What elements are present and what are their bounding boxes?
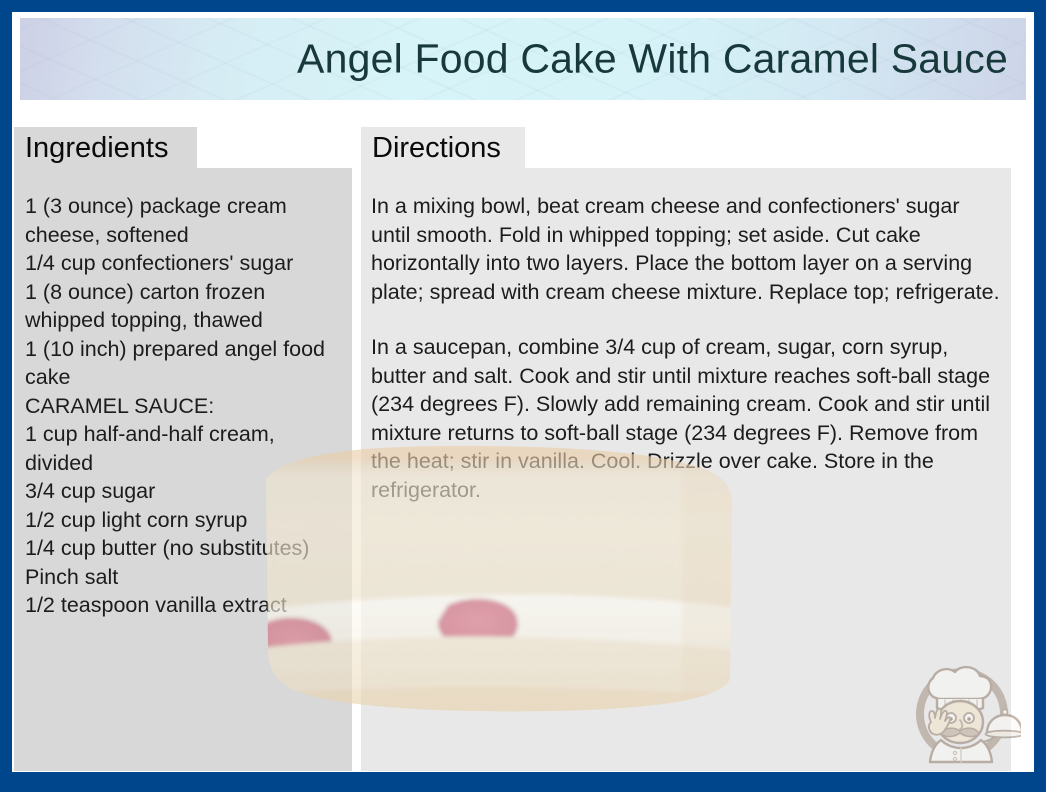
list-item: 1 (10 inch) prepared angel food cake — [25, 335, 342, 392]
frame-left-edge — [0, 0, 12, 792]
ingredients-heading: Ingredients — [14, 134, 169, 163]
title-banner: Angel Food Cake With Caramel Sauce — [20, 18, 1026, 100]
list-item: Pinch salt — [25, 563, 342, 592]
section-tab-ingredients: Ingredients — [14, 127, 197, 169]
list-item: 3/4 cup sugar — [25, 477, 342, 506]
list-item: 1/2 teaspoon vanilla extract — [25, 591, 342, 620]
section-tab-directions: Directions — [361, 127, 525, 169]
page-title: Angel Food Cake With Caramel Sauce — [297, 36, 1008, 83]
frame-right-edge — [1034, 0, 1046, 792]
recipe-card: Angel Food Cake With Caramel Sauce Ingre… — [0, 0, 1046, 792]
list-item: 1/4 cup confectioners' sugar — [25, 249, 342, 278]
direction-paragraph: In a mixing bowl, beat cream cheese and … — [371, 192, 1003, 306]
directions-heading: Directions — [361, 134, 501, 163]
list-item: 1 (3 ounce) package cream cheese, soften… — [25, 192, 342, 249]
list-item: 1/2 cup light corn syrup — [25, 506, 342, 535]
frame-top-edge — [0, 0, 1046, 12]
list-item: 1 (8 ounce) carton frozen whipped toppin… — [25, 278, 342, 335]
list-item: 1/4 cup butter (no substitutes) — [25, 534, 342, 563]
frame-bottom-edge — [0, 772, 1046, 792]
ingredients-panel: 1 (3 ounce) package cream cheese, soften… — [14, 168, 352, 771]
direction-paragraph: In a saucepan, combine 3/4 cup of cream,… — [371, 333, 1003, 504]
list-item: CARAMEL SAUCE: — [25, 392, 342, 421]
directions-panel: In a mixing bowl, beat cream cheese and … — [361, 168, 1011, 771]
list-item: 1 cup half-and-half cream, divided — [25, 420, 342, 477]
